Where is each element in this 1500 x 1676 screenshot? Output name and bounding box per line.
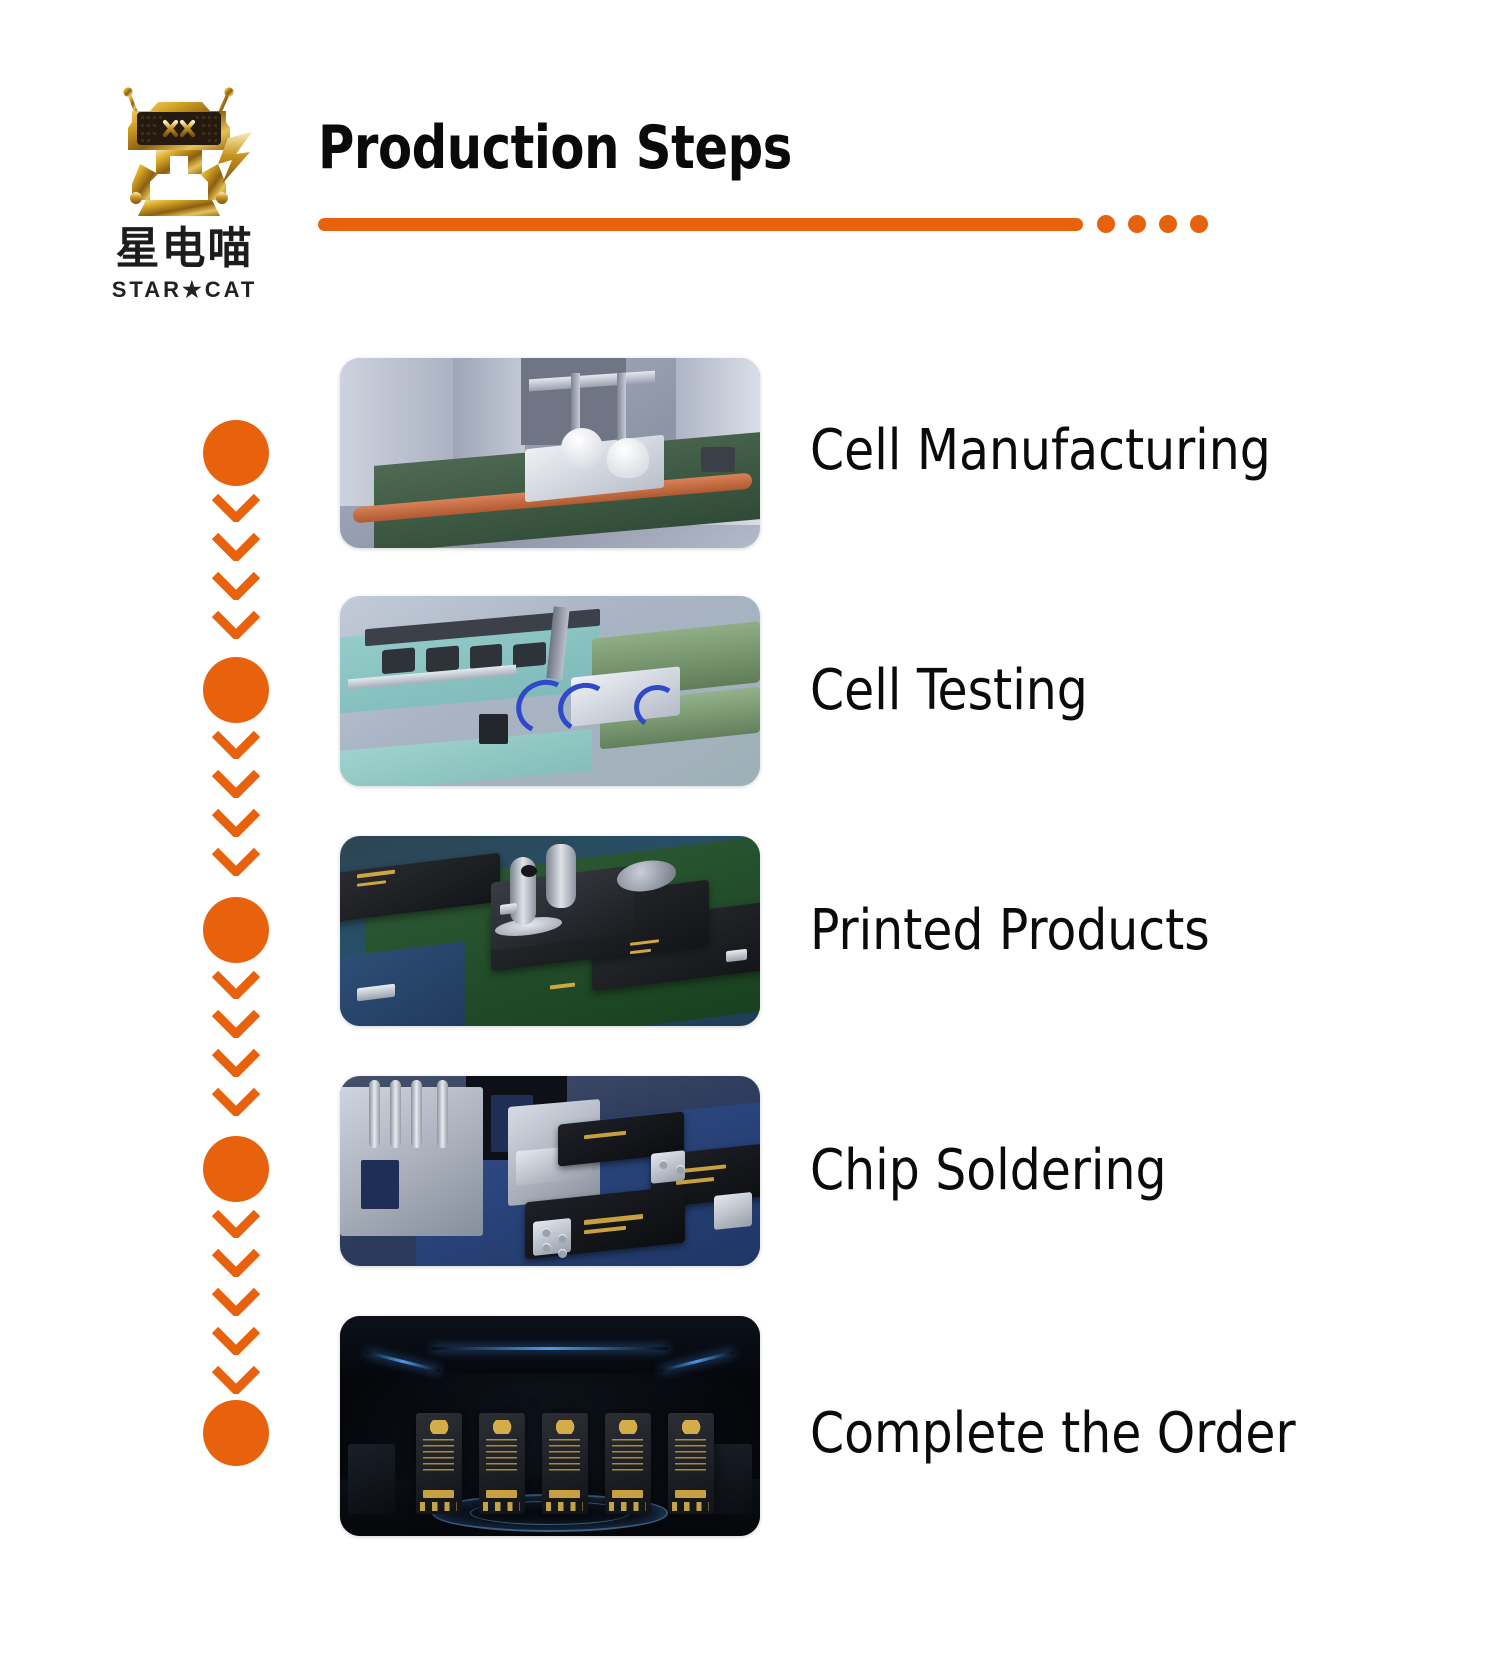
list-item: Chip Soldering [340, 1076, 1340, 1266]
step-thumbnail[interactable] [340, 596, 760, 786]
step-thumbnail[interactable] [340, 1076, 760, 1266]
list-item: Printed Products [340, 836, 1340, 1026]
list-item: Cell Testing [340, 596, 1340, 786]
printed-products-image [340, 836, 760, 1026]
step-label: Complete the Order [810, 1401, 1296, 1466]
step-label: Chip Soldering [810, 1138, 1167, 1203]
step-label: Printed Products [810, 898, 1210, 963]
complete-the-order-image [340, 1316, 760, 1536]
step-thumbnail[interactable] [340, 358, 760, 548]
production-steps-infographic: 星电喵 STAR★CAT Production Steps [0, 0, 1500, 1676]
cell-manufacturing-image [340, 358, 760, 548]
list-item: Complete the Order [340, 1316, 1340, 1536]
step-thumbnail[interactable] [340, 1316, 760, 1536]
chip-soldering-image [340, 1076, 760, 1266]
step-label: Cell Manufacturing [810, 418, 1271, 483]
list-item: Cell Manufacturing [340, 358, 1340, 548]
cell-testing-image [340, 596, 760, 786]
steps-list: Cell Manufacturing [0, 0, 1500, 1676]
step-label: Cell Testing [810, 658, 1088, 723]
step-thumbnail[interactable] [340, 836, 760, 1026]
